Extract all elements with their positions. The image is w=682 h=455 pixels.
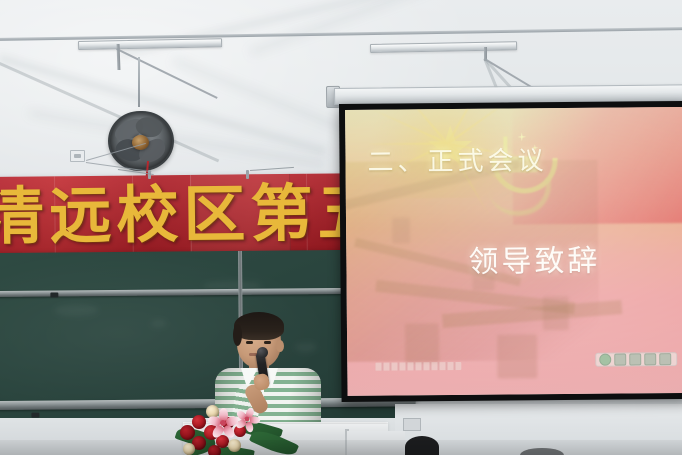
globe-icon[interactable] [599,354,611,366]
hair [234,312,284,340]
window-icon[interactable] [644,353,656,365]
fan-hub [132,135,149,150]
red-banner: 清远校区第五次团 [0,173,347,257]
wall-socket-icon [70,150,85,162]
slide-watermark-left [375,362,461,371]
chalkboard-clip [50,292,58,297]
photo-scene: 清远校区第五次团 [0,0,682,455]
pink-lily [210,411,236,435]
grid-icon[interactable] [659,353,671,365]
eye-right [264,341,271,344]
slide-surface: 二、正式会议 领导致辞 [345,107,682,396]
floor-shadow [0,440,682,455]
eye-left [246,341,253,344]
projection-screen[interactable]: 二、正式会议 领导致辞 [339,101,682,402]
red-rose [192,415,206,429]
slide-heading: 领导致辞 [468,236,600,281]
slide-toolbar[interactable] [595,352,677,367]
fan-cage-icon [108,111,174,171]
chalk-smudge [151,319,167,327]
chalkboard-clip [31,413,39,418]
chalk-smudge [54,304,98,316]
speaker-icon[interactable] [629,353,641,365]
ear [276,340,284,352]
fan-mounting-rod [138,57,140,107]
banner-hook-right [246,170,249,179]
person-icon[interactable] [614,354,626,366]
pink-lily [237,409,258,428]
lily-center [220,420,226,426]
slide-title: 二、正式会议 [367,140,547,179]
wall-fan [108,105,174,167]
wall-plate-icon [403,418,421,431]
banner-text: 清远校区第五次团 [0,175,347,255]
lily-center [245,417,250,422]
